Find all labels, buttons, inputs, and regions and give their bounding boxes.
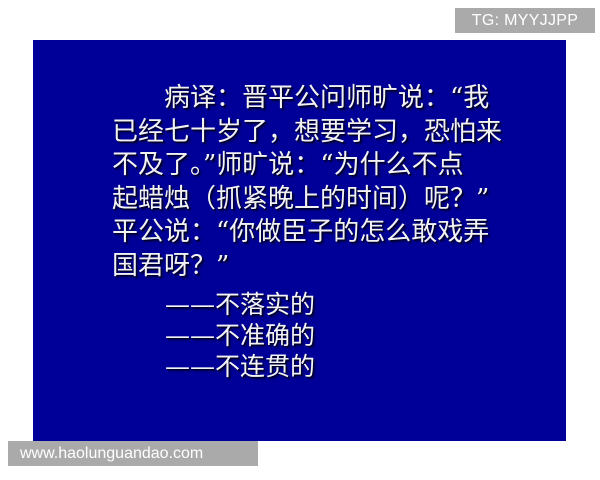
- paragraph-line-2: 已经七十岁了，想要学习，恐怕来: [112, 116, 557, 150]
- bullet-item-2: ——不准确的: [165, 320, 315, 351]
- paragraph-line-5: 平公说：“你做臣子的怎么敢戏弄: [112, 216, 557, 250]
- slide-canvas: 病译：晋平公问师旷说：“我 已经七十岁了，想要学习，恐怕来 不及了。”师旷说：“…: [33, 40, 566, 441]
- paragraph-line-3: 不及了。”师旷说：“为什么不点: [112, 149, 557, 183]
- paragraph-line-1: 病译：晋平公问师旷说：“我: [112, 82, 557, 116]
- slide-paragraph-block: 病译：晋平公问师旷说：“我 已经七十岁了，想要学习，恐怕来 不及了。”师旷说：“…: [112, 82, 557, 283]
- slide-bullet-block: ——不落实的 ——不准确的 ——不连贯的: [165, 289, 315, 382]
- tg-watermark-banner: TG: MYYJJPP: [455, 8, 595, 33]
- site-watermark-label: www.haolunguandao.com: [8, 445, 203, 463]
- bullet-item-3: ——不连贯的: [165, 351, 315, 382]
- site-watermark-banner: www.haolunguandao.com: [8, 441, 258, 466]
- paragraph-line-6: 国君呀？”: [112, 250, 557, 284]
- tg-watermark-label: TG: MYYJJPP: [472, 12, 578, 30]
- bullet-item-1: ——不落实的: [165, 289, 315, 320]
- paragraph-line-4: 起蜡烛（抓紧晚上的时间）呢？”: [112, 183, 557, 217]
